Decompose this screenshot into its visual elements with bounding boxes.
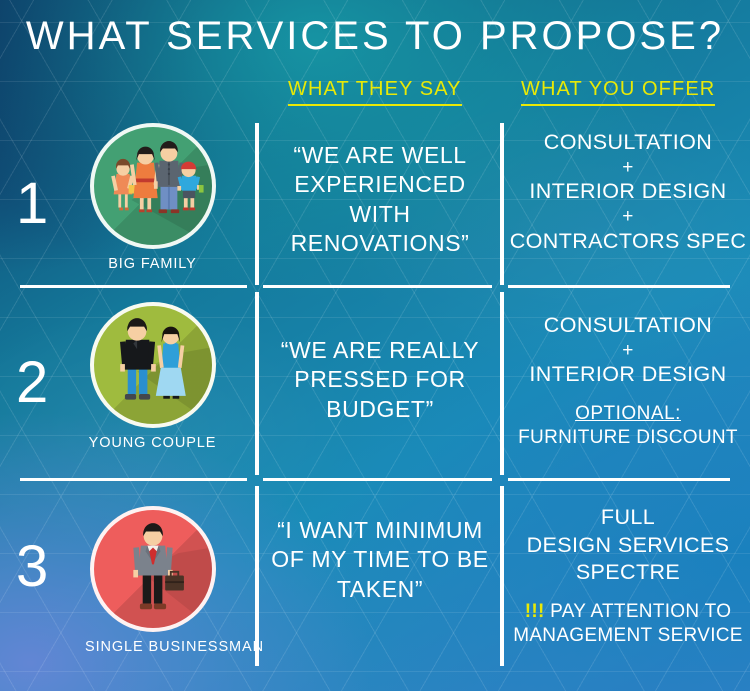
table-row: 3 bbox=[0, 486, 750, 691]
offer-line: + bbox=[506, 206, 750, 228]
spacer bbox=[506, 389, 750, 402]
row-number: 1 bbox=[16, 175, 48, 233]
offer-note-label: OPTIONAL: bbox=[506, 402, 750, 426]
offer-warning: !!! PAY ATTENTION TO MANAGEMENT SERVICE bbox=[506, 600, 750, 649]
persona-young-couple[interactable]: YOUNG COUPLE bbox=[85, 302, 220, 451]
offer-line: SPECTRE bbox=[506, 559, 750, 587]
persona-label: YOUNG COUPLE bbox=[85, 435, 220, 451]
infographic-canvas: WHAT SERVICES TO PROPOSE? WHAT THEY SAY … bbox=[0, 0, 750, 691]
column-header-what-you-offer: WHAT YOU OFFER bbox=[521, 78, 715, 106]
businessman-icon bbox=[90, 506, 216, 632]
spacer bbox=[506, 587, 750, 600]
offer-text: FULL DESIGN SERVICES SPECTRE !!! PAY ATT… bbox=[506, 504, 750, 648]
offer-line: + bbox=[506, 340, 750, 362]
offer-line: FULL bbox=[506, 504, 750, 532]
offer-note-text: PAY ATTENTION TO MANAGEMENT SERVICE bbox=[513, 601, 743, 646]
divider-horizontal-1b bbox=[263, 285, 492, 288]
table-row: 2 bbox=[0, 292, 750, 476]
quote-text: “I WANT MINIMUM OF MY TIME TO BE TAKEN” bbox=[262, 516, 498, 604]
offer-line: + bbox=[506, 157, 750, 179]
persona-big-family[interactable]: BIG FAMILY bbox=[85, 123, 220, 272]
quote-text: “WE ARE WELL EXPERIENCED WITH RENOVATION… bbox=[262, 141, 498, 259]
divider-horizontal-2c bbox=[508, 478, 730, 481]
divider-horizontal-2a bbox=[20, 478, 247, 481]
offer-line: CONSULTATION bbox=[506, 312, 750, 340]
column-header-what-they-say: WHAT THEY SAY bbox=[288, 78, 462, 106]
offer-text: CONSULTATION + INTERIOR DESIGN OPTIONAL:… bbox=[506, 312, 750, 451]
quote-text: “WE ARE REALLY PRESSED FOR BUDGET” bbox=[262, 336, 498, 424]
offer-text: CONSULTATION + INTERIOR DESIGN + CONTRAC… bbox=[506, 129, 750, 255]
offer-line: INTERIOR DESIGN bbox=[506, 361, 750, 389]
divider-horizontal-1a bbox=[20, 285, 247, 288]
exclamation-icon: !!! bbox=[525, 601, 545, 622]
persona-label: BIG FAMILY bbox=[85, 256, 220, 272]
offer-line: CONTRACTORS SPEC bbox=[506, 228, 750, 256]
page-title: WHAT SERVICES TO PROPOSE? bbox=[0, 14, 750, 59]
offer-note-text: FURNITURE DISCOUNT bbox=[506, 426, 750, 450]
divider-horizontal-1c bbox=[508, 285, 730, 288]
row-number: 2 bbox=[16, 354, 48, 412]
offer-line: DESIGN SERVICES bbox=[506, 532, 750, 560]
table-row: 1 bbox=[0, 113, 750, 285]
offer-line: CONSULTATION bbox=[506, 129, 750, 157]
row-number: 3 bbox=[16, 538, 48, 596]
family-icon bbox=[90, 123, 216, 249]
divider-horizontal-2b bbox=[263, 478, 492, 481]
persona-single-businessman[interactable]: SINGLE BUSINESSMAN bbox=[85, 506, 220, 655]
offer-line: INTERIOR DESIGN bbox=[506, 178, 750, 206]
couple-icon bbox=[90, 302, 216, 428]
persona-label: SINGLE BUSINESSMAN bbox=[85, 639, 220, 655]
